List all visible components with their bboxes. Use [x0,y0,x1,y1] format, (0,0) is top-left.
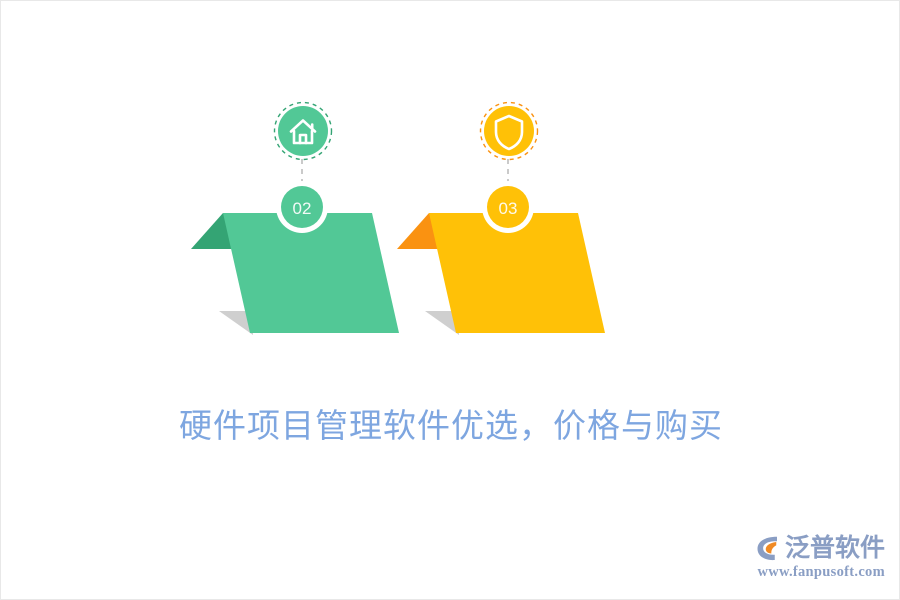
icon-disc-02[interactable] [278,106,328,156]
badge-label-03: 03 [499,199,518,218]
brand-watermark: 泛普软件 www.fanpusoft.com [753,531,885,587]
infographic-stage: 02 [1,1,900,600]
brand-url: www.fanpusoft.com [753,564,885,581]
fanpu-logo-icon [753,533,783,563]
step-group-02: 02 [191,103,399,336]
brand-name: 泛普软件 [785,533,885,563]
badge-label-02: 02 [293,199,312,218]
step-group-03: 03 [397,103,605,336]
shield-icon [496,116,522,149]
infographic-page: 02 [0,0,900,600]
page-title: 硬件项目管理软件优选，价格与购买 [1,399,900,447]
brand-row: 泛普软件 [753,531,885,565]
